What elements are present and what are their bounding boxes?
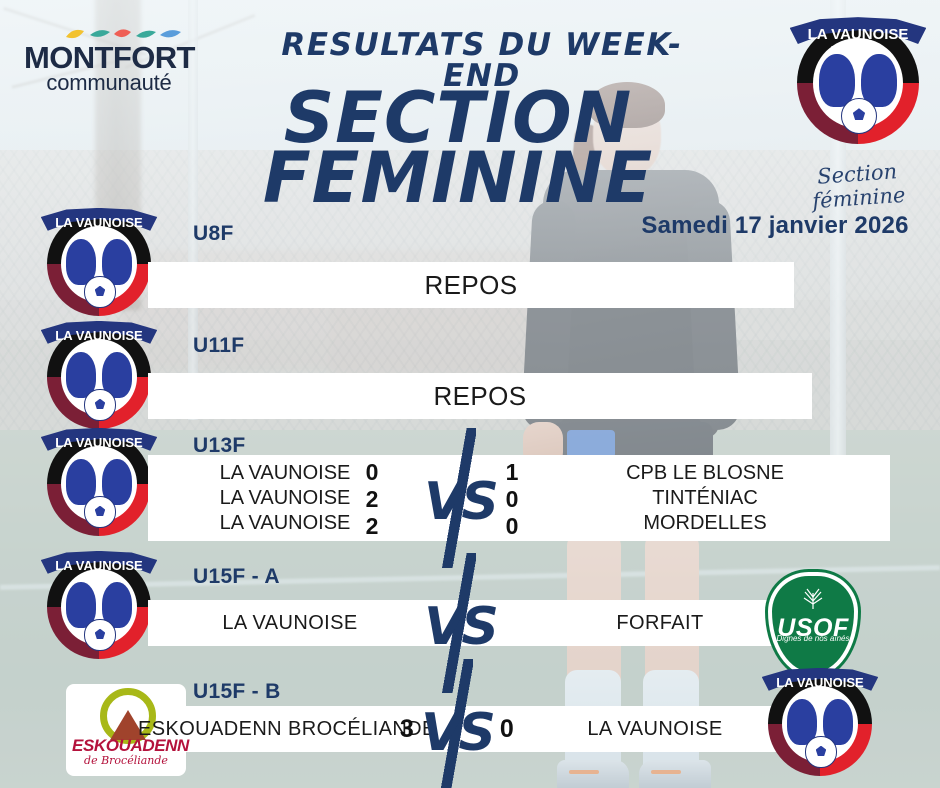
- crest-banner-subtext: FOOTBALL: [47, 576, 151, 584]
- row-u13f-vs-badge: VS: [400, 428, 520, 568]
- row-u8f-home-crest: LA VAUNOISE FOOTBALL: [47, 212, 151, 316]
- ball-pentagon: [816, 746, 826, 756]
- row-u15fb-away-crest: LA VAUNOISE FOOTBALL: [768, 672, 872, 776]
- row-u11f-status: REPOS: [148, 373, 812, 419]
- category-label-u11f: U11F: [193, 334, 244, 358]
- crest-banner-text: LA VAUNOISE: [47, 436, 151, 450]
- u13f-home-score-1: 0: [352, 459, 392, 486]
- crest-banner-text: LA VAUNOISE: [47, 216, 151, 230]
- match-date: Samedi 17 janvier 2026: [630, 212, 920, 240]
- ball-pentagon: [853, 108, 865, 120]
- crest-football-icon: [84, 619, 115, 650]
- u13f-home-score-3: 2: [352, 513, 392, 540]
- crest-banner-subtext: FOOTBALL: [47, 346, 151, 354]
- row-u15fa-away-team: FORFAIT: [530, 600, 790, 646]
- row-u15fa-home-crest: LA VAUNOISE FOOTBALL: [47, 555, 151, 659]
- crest-banner-text: LA VAUNOISE: [797, 27, 919, 43]
- u13f-away-team-2: TINTÉNIAC: [560, 486, 850, 511]
- u13f-away-team-3: MORDELLES: [560, 511, 850, 536]
- vs-label: VS: [400, 472, 520, 532]
- crest-banner-text: LA VAUNOISE: [47, 559, 151, 573]
- headline-section: SECTION FEMININE: [248, 88, 668, 208]
- crest-banner-text: LA VAUNOISE: [47, 329, 151, 343]
- row-u15fa-home-team: LA VAUNOISE: [160, 600, 420, 646]
- montfort-communaute-logo: MONTFORT communauté: [24, 26, 194, 98]
- crest-banner-subtext: FOOTBALL: [47, 233, 151, 241]
- montfort-subtitle: communauté: [24, 72, 194, 94]
- category-label-u15fa: U15F - A: [193, 565, 280, 589]
- crest-football-icon: [84, 496, 115, 527]
- section-feminine-signature: Section féminine: [796, 158, 919, 214]
- crest-football-icon: [841, 98, 877, 134]
- row-u15fb-away-team: LA VAUNOISE: [540, 706, 770, 752]
- row-u11f-home-crest: LA VAUNOISE FOOTBALL: [47, 325, 151, 429]
- eskouadenn-subtitle: de Brocéliande: [72, 754, 180, 767]
- crest-football-icon: [805, 736, 836, 767]
- category-label-u8f: U8F: [193, 222, 234, 246]
- usof-sprig-icon: [798, 587, 828, 609]
- ball-pentagon: [95, 629, 105, 639]
- crest-banner-text: LA VAUNOISE: [768, 676, 872, 690]
- row-u8f-status: REPOS: [148, 262, 794, 308]
- crest-football-icon: [84, 389, 115, 420]
- crest-banner-subtext: FOOTBALL: [797, 46, 919, 57]
- row-u15fb-home-team: ESKOUADENN BROCÉLIANDE: [138, 706, 400, 752]
- row-u15fb-vs-badge: VS: [397, 659, 517, 788]
- vs-label: VS: [397, 703, 517, 763]
- row-u15fa-away-crest-usof: USOF Dignes de nos aînés: [768, 572, 858, 676]
- headline-section-word2: FEMININE: [248, 148, 668, 208]
- crest-banner-subtext: FOOTBALL: [47, 453, 151, 461]
- crest-banner-subtext: FOOTBALL: [768, 693, 872, 701]
- la-vaunoise-crest-header: LA VAUNOISE FOOTBALL: [797, 22, 919, 144]
- u13f-away-team-1: CPB LE BLOSNE: [560, 461, 850, 486]
- results-poster: MONTFORT communauté RESULTATS DU WEEK-EN…: [0, 0, 940, 788]
- vs-label: VS: [400, 597, 520, 657]
- ball-pentagon: [95, 399, 105, 409]
- u13f-home-score-2: 2: [352, 486, 392, 513]
- row-u13f-home-scores: 0 2 2: [352, 459, 392, 540]
- row-u13f-home-crest: LA VAUNOISE FOOTBALL: [47, 432, 151, 536]
- row-u13f-away-teams: CPB LE BLOSNE TINTÉNIAC MORDELLES: [560, 461, 850, 536]
- ball-pentagon: [95, 506, 105, 516]
- category-label-u15fb: U15F - B: [193, 680, 281, 704]
- montfort-wordmark: MONTFORT: [24, 42, 194, 73]
- ball-pentagon: [95, 286, 105, 296]
- usof-motto: Dignes de nos aînés: [768, 634, 858, 643]
- crest-football-icon: [84, 276, 115, 307]
